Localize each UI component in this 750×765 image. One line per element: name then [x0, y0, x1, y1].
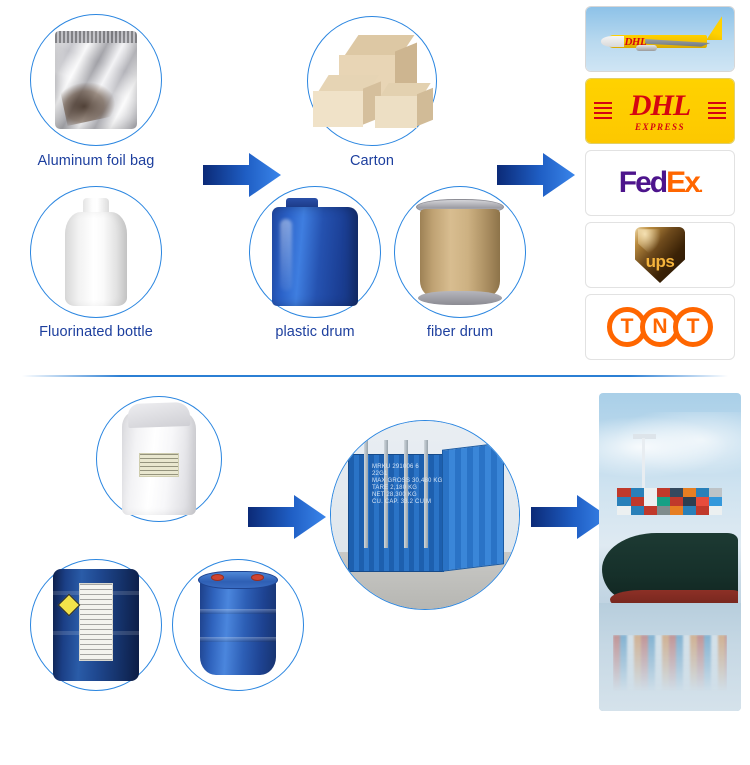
- fedex-ex-text: Ex: [666, 166, 699, 199]
- fluorinated-bottle-image: [65, 198, 127, 306]
- plastic-barrel-circle: [172, 559, 304, 691]
- dhl-wordmark: DHL: [630, 91, 690, 121]
- steel-drum-image: [53, 569, 139, 681]
- packaging-shipping-infographic: Aluminum foil bag Fluorinated bottle: [0, 0, 750, 765]
- fedex-logo: FedEx.: [619, 168, 702, 198]
- container-marking-line-3: MAX GROSS 30,480 KG: [372, 478, 443, 485]
- shipping-container-image: MRKU 291006 6 22G1 MAX GROSS 30,480 KG T…: [330, 420, 520, 610]
- container-marking-line-6: CU. CAP. 33.2 CU.M: [372, 499, 443, 506]
- dhl-stripes-left-icon: [594, 102, 612, 120]
- fluorinated-bottle-caption: Fluorinated bottle: [10, 324, 182, 340]
- ship-container-stack: [617, 488, 722, 515]
- carton-caption: Carton: [287, 153, 457, 169]
- container-ship-photo-card: [599, 393, 741, 711]
- tnt-logo: T N T: [607, 307, 713, 347]
- plastic-barrel-image: [198, 571, 278, 679]
- sack-label: [139, 453, 179, 477]
- ups-shield-icon: ups: [635, 227, 685, 283]
- aluminum-foil-bag-image: [55, 31, 137, 129]
- arrow-bulk-to-container: [248, 494, 326, 540]
- fedex-fed-text: Fed: [619, 166, 666, 199]
- container-marking-line-5: NET 28,300 KG: [372, 492, 443, 499]
- section-divider: [22, 375, 728, 377]
- dhl-express-logo: DHL EXPRESS: [586, 79, 734, 143]
- carton-circle: [307, 16, 437, 146]
- plastic-drum-circle: [249, 186, 381, 318]
- fiber-drum-caption: fiber drum: [374, 324, 546, 340]
- arrow-outer-to-courier: [497, 152, 575, 198]
- fiber-drum-image: [416, 199, 504, 305]
- steel-drum-circle: [30, 559, 162, 691]
- plastic-drum-image: [272, 198, 358, 306]
- container-markings: MRKU 291006 6 22G1 MAX GROSS 30,480 KG T…: [372, 464, 443, 506]
- ups-logo-card: ups: [585, 222, 735, 288]
- fedex-logo-card: FedEx.: [585, 150, 735, 216]
- carton-image: [313, 33, 431, 129]
- container-marking-line-2: 22G1: [372, 471, 443, 478]
- aluminum-foil-bag-caption: Aluminum foil bag: [10, 153, 182, 169]
- dhl-plane-livery-text: DHL: [624, 36, 646, 48]
- tnt-letter-3: T: [673, 307, 713, 347]
- dhl-express-sublabel: EXPRESS: [635, 123, 685, 132]
- aluminum-foil-bag-circle: [30, 14, 162, 146]
- container-marking-line-4: TARE 2,180 KG: [372, 485, 443, 492]
- dhl-airplane-photo-card: DHL: [585, 6, 735, 72]
- arrow-inner-to-outer: [203, 152, 281, 198]
- tnt-logo-card: T N T: [585, 294, 735, 360]
- fluorinated-bottle-circle: [30, 186, 162, 318]
- container-ship-photo: [599, 393, 741, 711]
- container-marking-line-1: MRKU 291006 6: [372, 464, 443, 471]
- fiber-drum-circle: [394, 186, 526, 318]
- woven-sack-image: [122, 403, 196, 515]
- woven-sack-circle: [96, 396, 222, 522]
- arrow-container-to-ship: [531, 494, 609, 540]
- dhl-airplane-photo: DHL: [586, 7, 734, 71]
- fedex-dot: .: [699, 179, 701, 196]
- ups-wordmark: ups: [635, 252, 685, 272]
- dhl-express-logo-card: DHL EXPRESS: [585, 78, 735, 144]
- dhl-stripes-right-icon: [708, 102, 726, 120]
- shipping-container-circle: MRKU 291006 6 22G1 MAX GROSS 30,480 KG T…: [330, 420, 520, 610]
